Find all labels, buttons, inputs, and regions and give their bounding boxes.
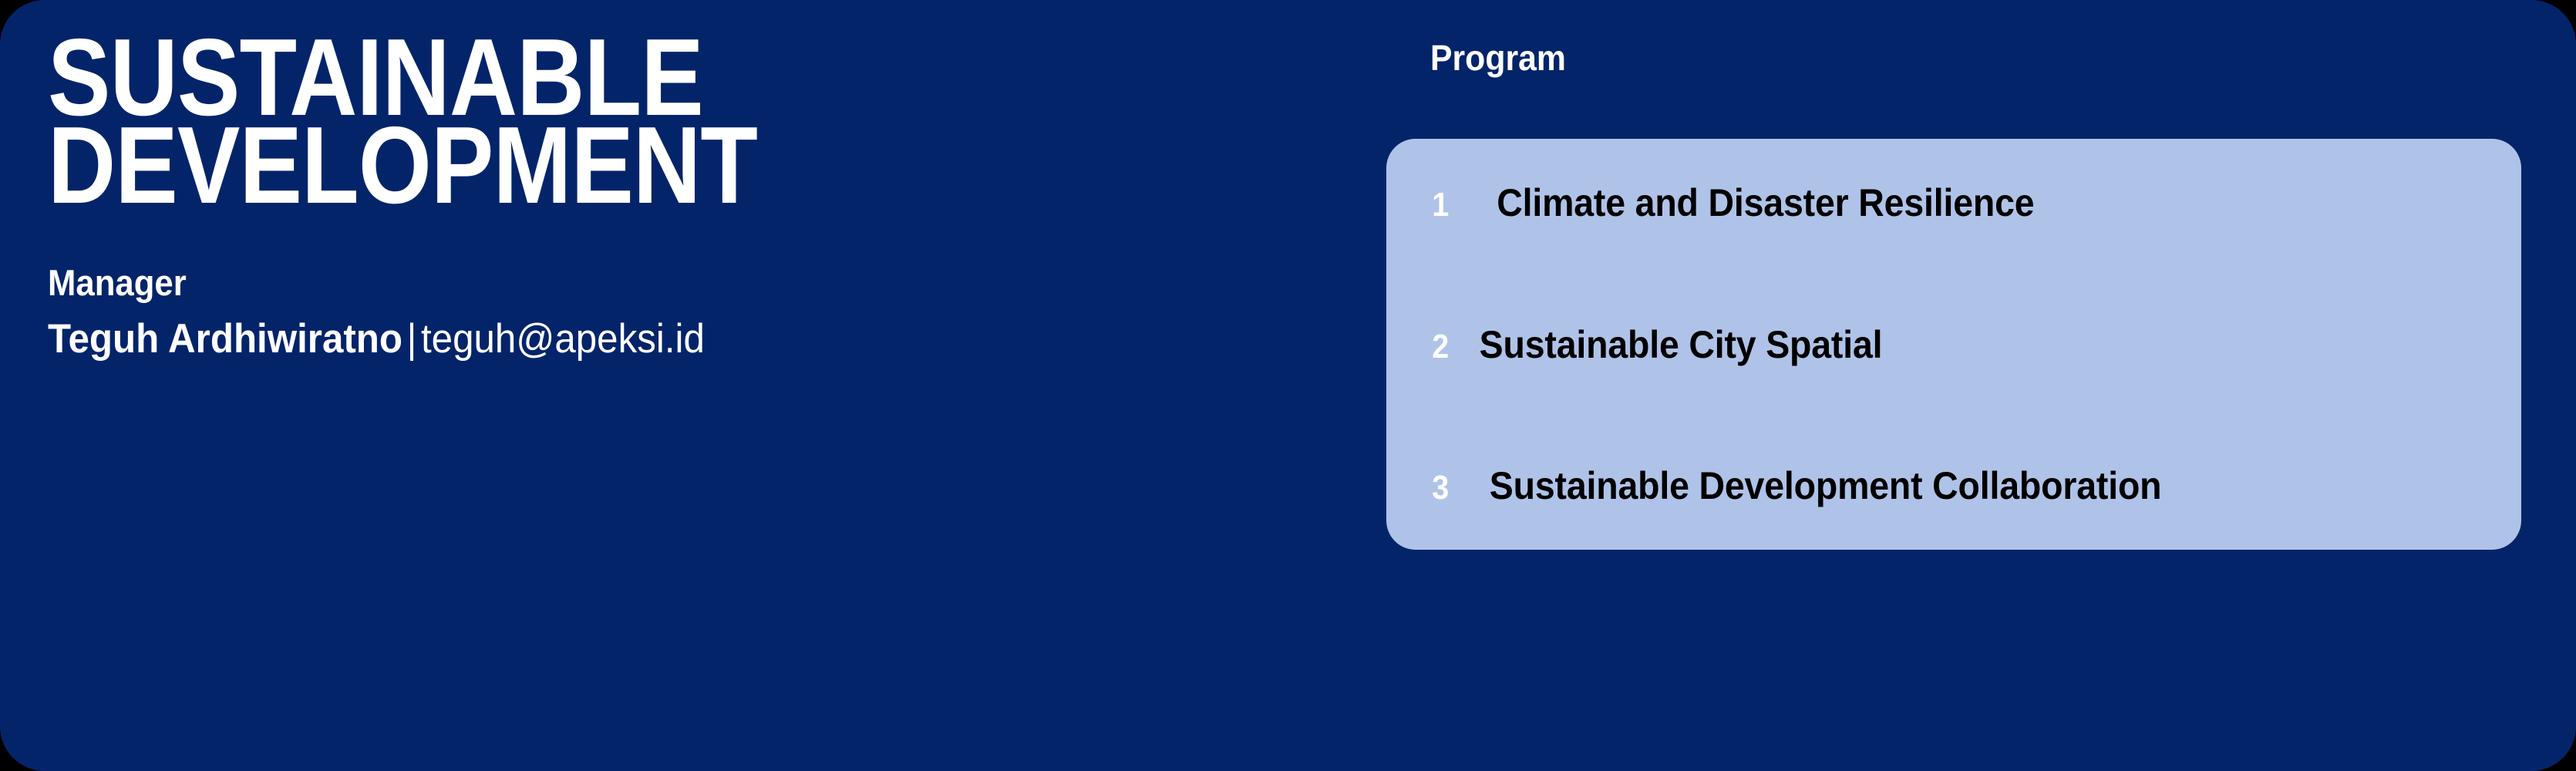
- program-item[interactable]: 3 Sustainable Development Collaboration: [1430, 466, 2490, 505]
- page-title-line-2: DEVELOPMENT: [48, 122, 1175, 210]
- program-item-number: 1: [1432, 188, 1463, 222]
- contact-line: Teguh Ardhiwiratno|teguh@apeksi.id: [48, 318, 1267, 361]
- contact-person-name: Teguh Ardhiwiratno: [48, 316, 402, 362]
- screenshot-root: SUSTAINABLE DEVELOPMENT Manager Teguh Ar…: [0, 0, 2576, 771]
- contact-email[interactable]: teguh@apeksi.id: [421, 316, 705, 362]
- left-column: SUSTAINABLE DEVELOPMENT Manager Teguh Ar…: [48, 34, 1359, 361]
- program-list-card: 1 Climate and Disaster Resilience 2 Sust…: [1386, 139, 2521, 550]
- program-item[interactable]: 2 Sustainable City Spatial: [1430, 325, 2490, 364]
- program-item-label: Sustainable Development Collaboration: [1490, 466, 2162, 505]
- program-item-label: Climate and Disaster Resilience: [1497, 183, 2034, 222]
- role-label: Manager: [48, 264, 1267, 301]
- right-column: Program 1 Climate and Disaster Resilienc…: [1386, 39, 2527, 78]
- page-title: SUSTAINABLE DEVELOPMENT: [48, 34, 1175, 209]
- program-section-label: Program: [1430, 39, 2450, 78]
- program-list: 1 Climate and Disaster Resilience 2 Sust…: [1430, 183, 2490, 505]
- contact-separator: |: [402, 316, 421, 362]
- sustainable-development-panel: SUSTAINABLE DEVELOPMENT Manager Teguh Ar…: [0, 0, 2576, 771]
- program-item[interactable]: 1 Climate and Disaster Resilience: [1430, 183, 2490, 222]
- program-item-number: 3: [1432, 471, 1463, 505]
- program-item-number: 2: [1432, 330, 1463, 364]
- program-item-label: Sustainable City Spatial: [1480, 325, 1883, 364]
